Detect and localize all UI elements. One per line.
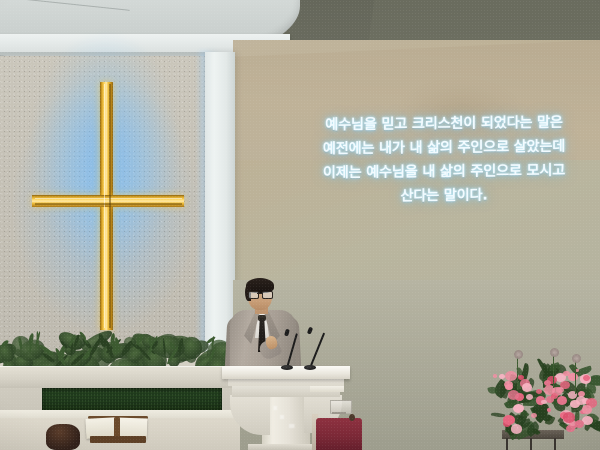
photo-scene: 예수님을 믿고 크리스천이 되었다는 말은 예전에는 내가 내 삶의 주인으로 … <box>0 0 600 450</box>
pulpit-projected-text <box>268 402 308 436</box>
flower-bloom <box>541 400 547 405</box>
pulpit-wing-left <box>230 395 270 435</box>
flower-stand-leg <box>506 438 508 450</box>
flower-bloom <box>493 374 498 378</box>
flower-bloom <box>536 389 542 394</box>
flower-leaf <box>545 415 556 426</box>
flower-bloom <box>503 415 515 425</box>
cross-bevel-shadow <box>109 84 111 328</box>
ceiling-panel-line <box>0 0 130 11</box>
allium-puff-flower <box>550 348 559 357</box>
microphone-base <box>281 365 293 370</box>
dark-foreground-object <box>46 424 80 450</box>
flower-stand-leg <box>554 438 556 450</box>
projected-sermon-text: 예수님을 믿고 크리스천이 되었다는 말은 예전에는 내가 내 삶의 주인으로 … <box>296 110 592 209</box>
flower-bloom <box>563 412 575 422</box>
allium-puff-flower <box>572 354 581 363</box>
flower-bloom <box>513 404 524 413</box>
flower-bloom <box>575 420 584 428</box>
dark-green-wall-inset <box>42 388 222 412</box>
pulpit-side-shelf <box>310 386 344 392</box>
cross-bevel-highlight <box>104 84 106 328</box>
flower-bloom <box>505 384 512 390</box>
flower-bloom <box>531 413 537 418</box>
flower-bloom <box>547 408 551 412</box>
planter-ledge <box>0 366 240 388</box>
cross-bevel-shadow <box>35 203 182 205</box>
flower-bloom <box>583 375 590 381</box>
flower-stem <box>553 354 554 388</box>
red-chair-back <box>316 418 362 450</box>
eyeglass-lens-right <box>262 291 273 299</box>
wall-speaker-mount <box>332 412 346 414</box>
eyeglasses <box>248 291 273 297</box>
flower-stem <box>517 356 518 390</box>
bible-stand <box>90 436 146 443</box>
flower-stand-leg <box>530 438 532 450</box>
flower-bloom <box>556 387 564 393</box>
flower-bloom <box>499 374 505 379</box>
flower-bloom <box>544 380 551 386</box>
flower-bloom <box>522 383 533 392</box>
flower-bloom <box>582 405 593 414</box>
flower-stem <box>575 360 576 394</box>
microphone-base <box>304 365 316 370</box>
flower-bloom <box>505 371 517 381</box>
floral-arrangement <box>484 344 598 450</box>
allium-puff-flower <box>514 350 523 359</box>
preacher <box>218 278 310 373</box>
flower-bloom <box>511 424 522 434</box>
open-bible <box>86 414 148 440</box>
flower-bloom <box>568 373 577 381</box>
flower-bloom <box>557 396 567 405</box>
gold-cross <box>14 70 204 340</box>
chair-finial <box>349 414 355 421</box>
flower-bloom <box>526 394 533 400</box>
